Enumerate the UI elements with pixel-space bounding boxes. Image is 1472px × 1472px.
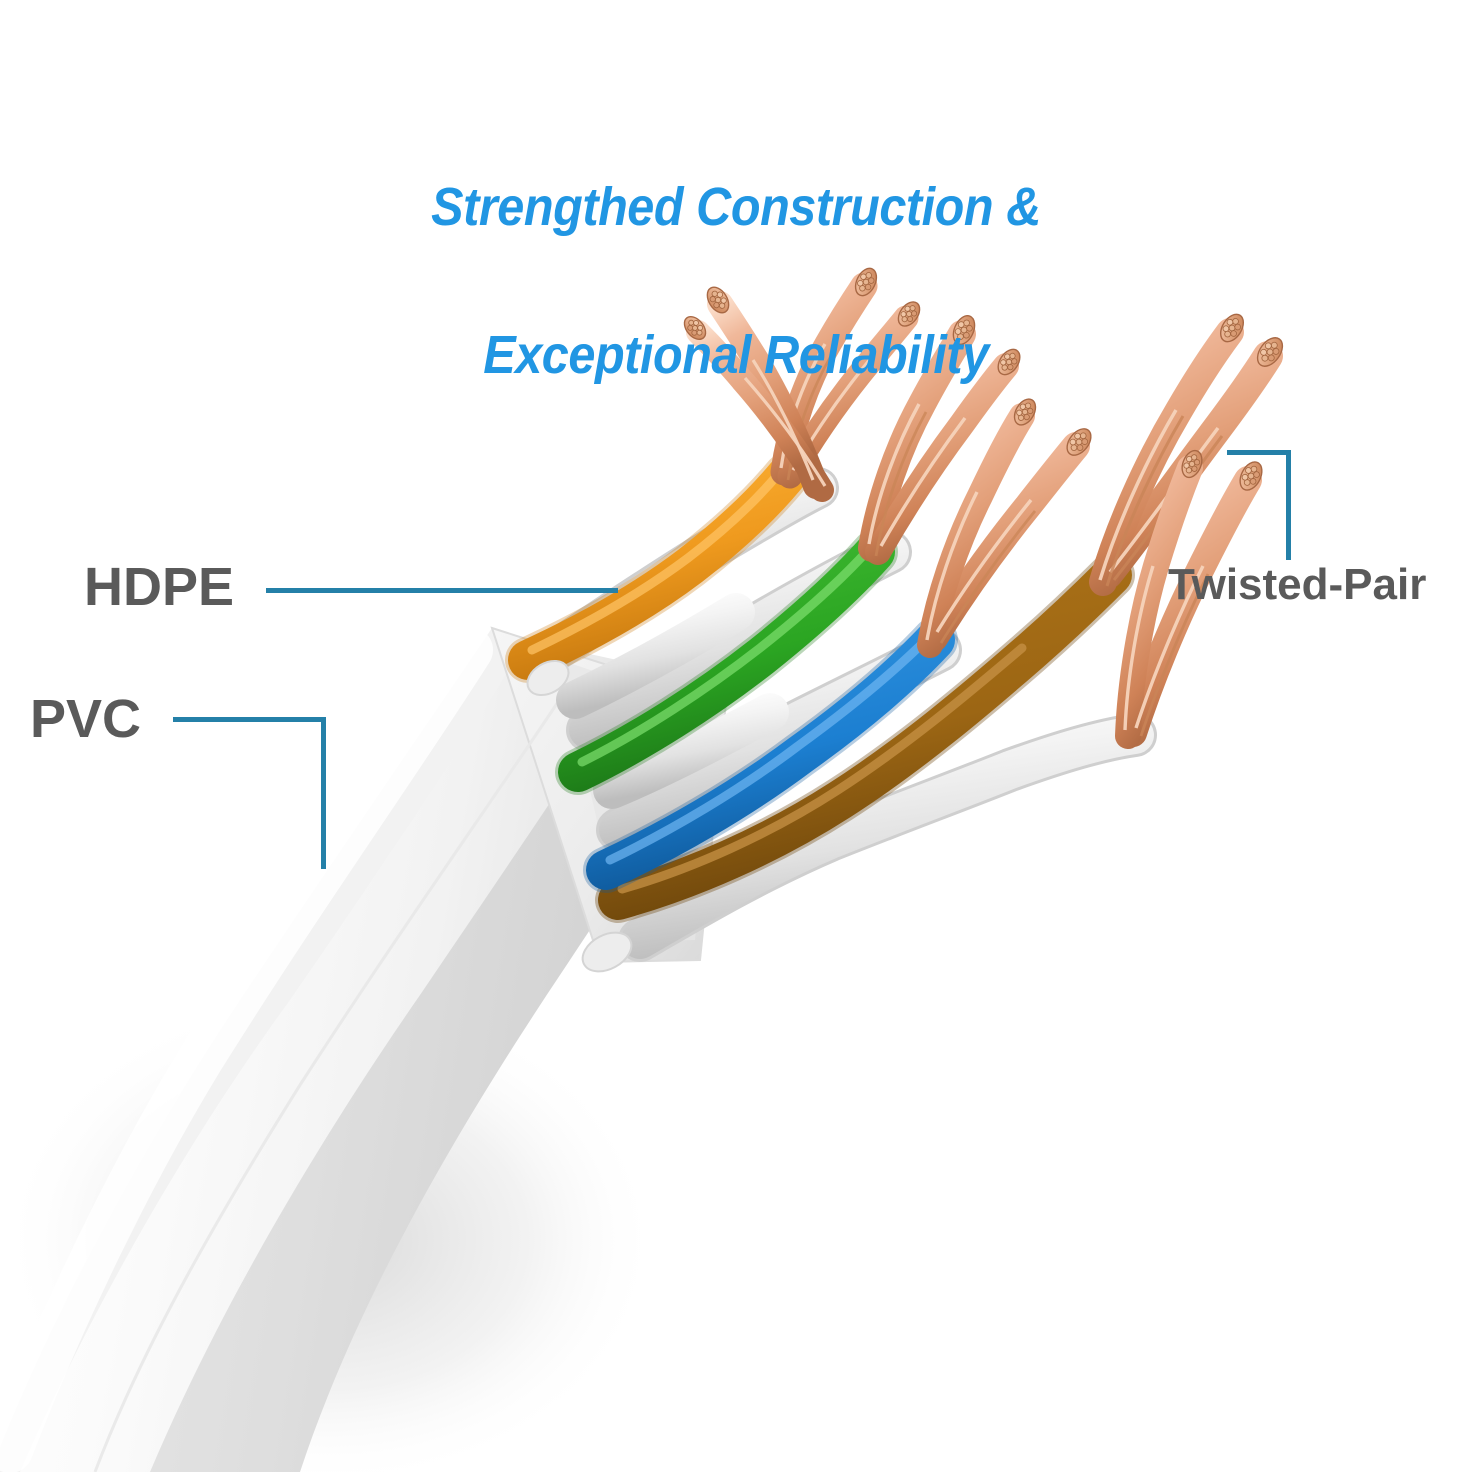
- title-line-2: Exceptional Reliability: [74, 318, 1399, 392]
- twisted-pair-leader-line-vertical: [1286, 450, 1291, 560]
- illustration-canvas: Strengthed Construction & Exceptional Re…: [0, 0, 1472, 1472]
- page-title: Strengthed Construction & Exceptional Re…: [74, 96, 1399, 466]
- title-line-1: Strengthed Construction &: [74, 170, 1399, 244]
- twisted-pair-label: Twisted-Pair: [1168, 560, 1426, 610]
- pvc-label: PVC: [30, 688, 141, 750]
- hdpe-leader-line: [266, 588, 618, 593]
- pvc-leader-line-vertical: [321, 717, 326, 869]
- pvc-leader-line-horizontal: [173, 717, 325, 722]
- hdpe-label: HDPE: [84, 556, 234, 618]
- twisted-pair-leader-line-horizontal: [1227, 450, 1291, 455]
